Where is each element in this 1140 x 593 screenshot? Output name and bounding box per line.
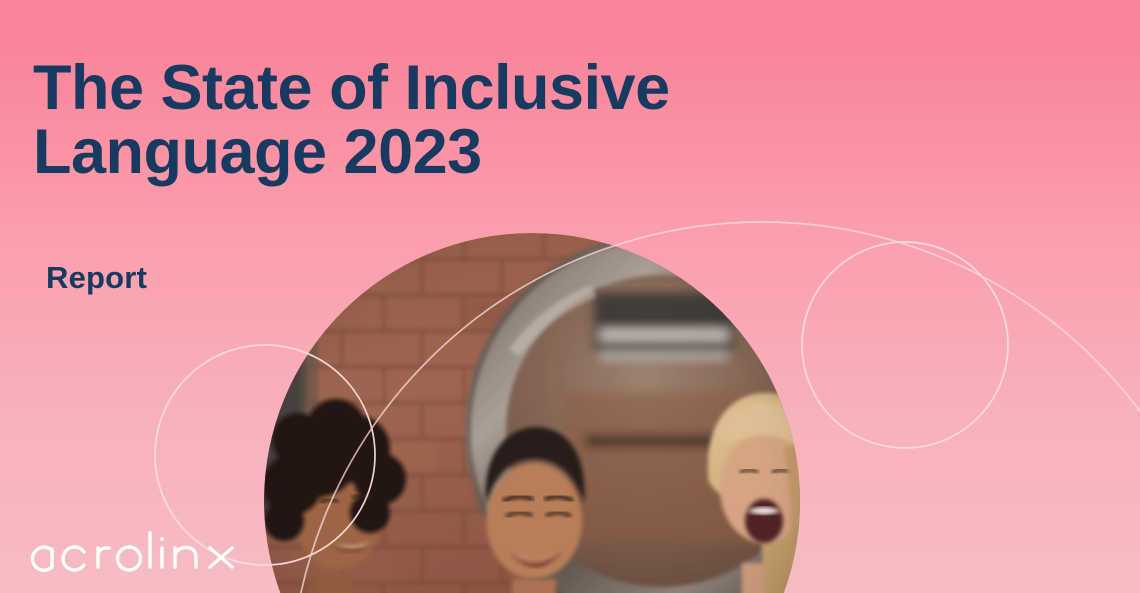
document-type-label: Report <box>46 260 147 296</box>
ring-right-small-circle <box>802 242 1008 448</box>
cover-photo <box>264 233 800 593</box>
page-title: The State of Inclusive Language 2023 <box>33 56 933 185</box>
acrolinx-logo[interactable] <box>28 527 248 579</box>
report-cover: The State of Inclusive Language 2023 Rep… <box>0 0 1140 593</box>
cover-photo-illustration <box>264 233 800 593</box>
